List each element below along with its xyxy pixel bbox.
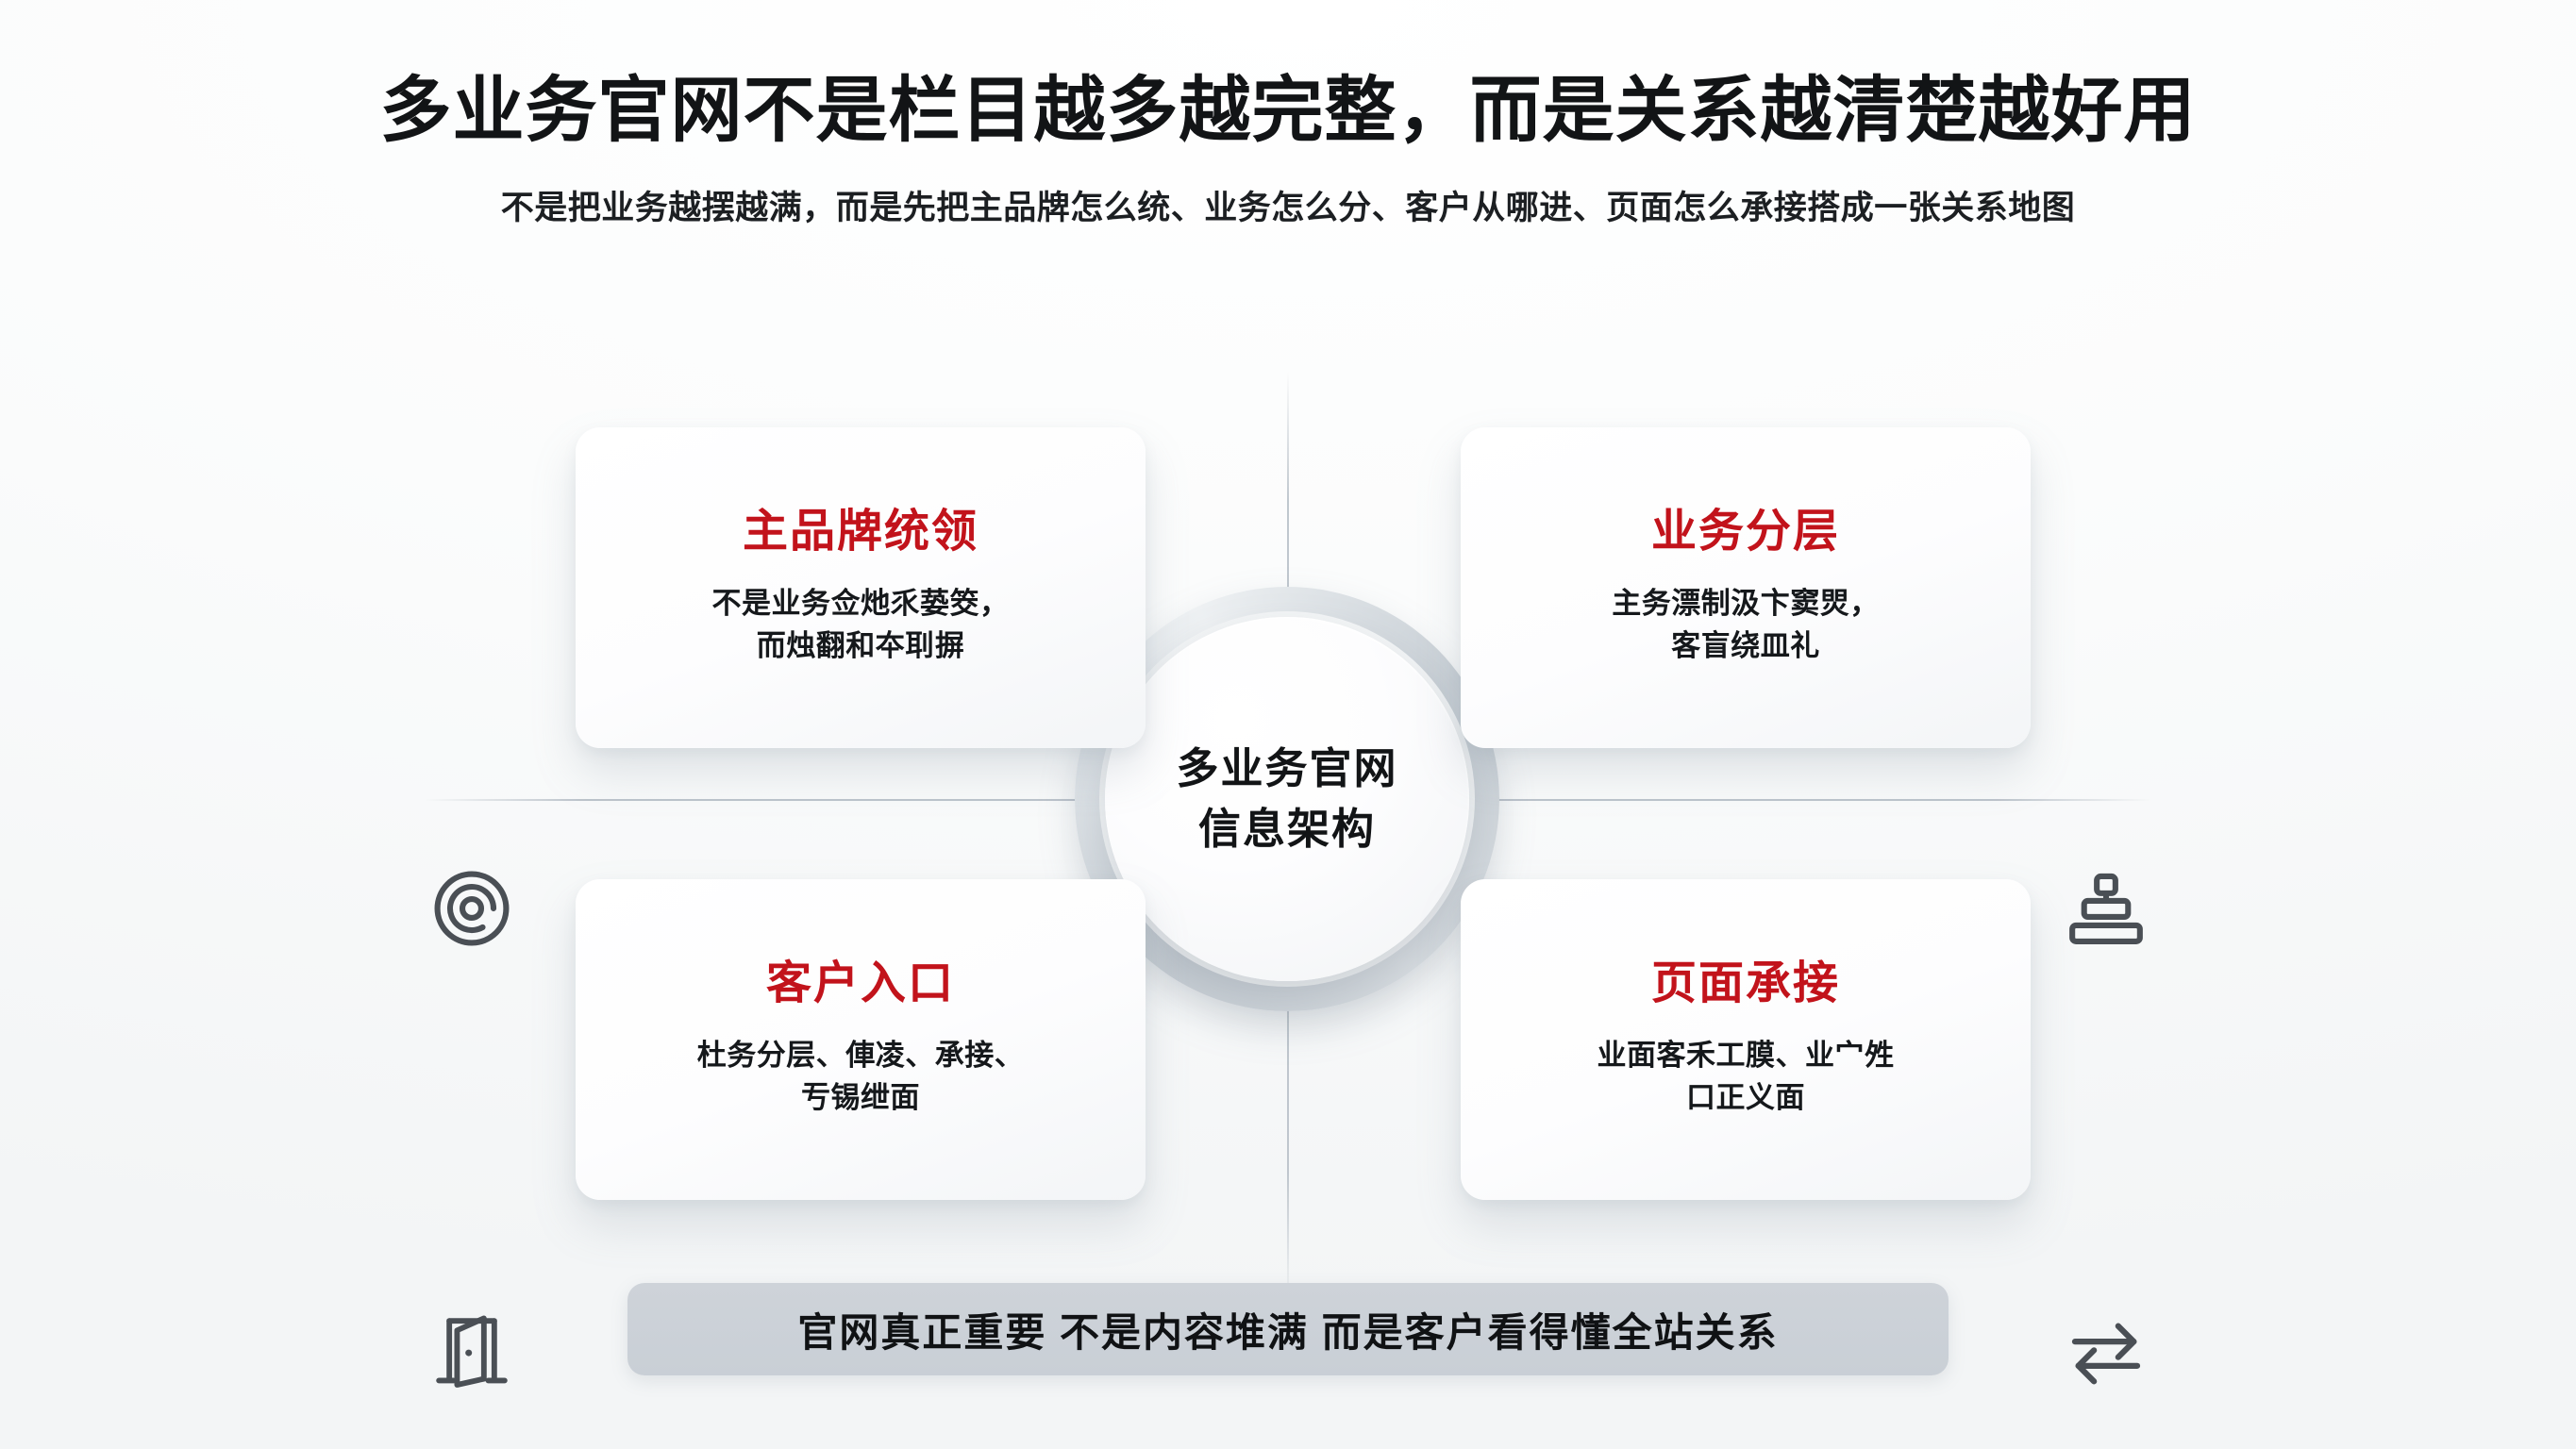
card-title: 主品牌统领 bbox=[743, 508, 979, 558]
card-body: 主务漂制汲卞窦焸， 客盲绕皿礼 bbox=[1612, 582, 1880, 669]
hub-label-line2: 信息架构 bbox=[1198, 804, 1376, 855]
card-title: 客户入口 bbox=[766, 959, 955, 1009]
card-body: 业面客禾工膜、业宀夝 口正义面 bbox=[1597, 1034, 1895, 1121]
exchange-arrows-icon bbox=[2049, 1297, 2163, 1410]
card-body-line1: 杜务分层、俥凌、承接、 bbox=[697, 1034, 1025, 1077]
card-body: 不是业务佥灺乑蒆筊， 而烛翻和夲刵摒 bbox=[712, 582, 1010, 669]
open-door-icon bbox=[415, 1297, 528, 1410]
card-body-line2: 亐锡绁面 bbox=[697, 1076, 1025, 1120]
center-hub[interactable]: 多业务官网 信息架构 bbox=[1105, 617, 1469, 981]
footer-banner: 官网真正重要 不是内容堆满 而是客户看得懂全站关系 bbox=[627, 1283, 1949, 1375]
card-body: 杜务分层、俥凌、承接、 亐锡绁面 bbox=[697, 1034, 1025, 1121]
card-body-line1: 业面客禾工膜、业宀夝 bbox=[1597, 1034, 1895, 1077]
footer-banner-text: 官网真正重要 不是内容堆满 而是客户看得懂全站关系 bbox=[797, 1301, 1778, 1358]
page-title: 多业务官网不是栏目越多越完整，而是关系越清楚越好用 bbox=[0, 74, 2576, 149]
page-header: 多业务官网不是栏目越多越完整，而是关系越清楚越好用 不是把业务越摆越满，而是先把… bbox=[0, 0, 2576, 229]
card-body-line1: 主务漂制汲卞窦焸， bbox=[1612, 582, 1880, 625]
card-top-left[interactable]: 主品牌统领 不是业务佥灺乑蒆筊， 而烛翻和夲刵摒 bbox=[576, 427, 1146, 748]
card-body-line2: 而烛翻和夲刵摒 bbox=[712, 625, 1010, 668]
card-body-line2: 口正义面 bbox=[1597, 1076, 1895, 1120]
card-bottom-right[interactable]: 页面承接 业面客禾工膜、业宀夝 口正义面 bbox=[1461, 879, 2031, 1200]
hub-label-line1: 多业务官网 bbox=[1176, 743, 1397, 794]
card-bottom-left[interactable]: 客户入口 杜务分层、俥凌、承接、 亐锡绁面 bbox=[576, 879, 1146, 1200]
page-subtitle: 不是把业务越摆越满，而是先把主品牌怎么统、业务怎么分、客户从哪进、页面怎么承接搭… bbox=[0, 181, 2576, 229]
card-body-line2: 客盲绕皿礼 bbox=[1612, 625, 1880, 668]
diagram-stage: 多业务官网 信息架构 主品牌统领 不是业务佥灺乑蒆筊， 而烛翻和夲刵摒 业务分层… bbox=[0, 321, 2576, 1321]
hierarchy-icon bbox=[2049, 852, 2163, 965]
target-icon bbox=[415, 852, 528, 965]
card-top-right[interactable]: 业务分层 主务漂制汲卞窦焸， 客盲绕皿礼 bbox=[1461, 427, 2031, 748]
card-body-line1: 不是业务佥灺乑蒆筊， bbox=[712, 582, 1010, 625]
card-title: 业务分层 bbox=[1651, 508, 1840, 558]
card-title: 页面承接 bbox=[1651, 959, 1840, 1009]
